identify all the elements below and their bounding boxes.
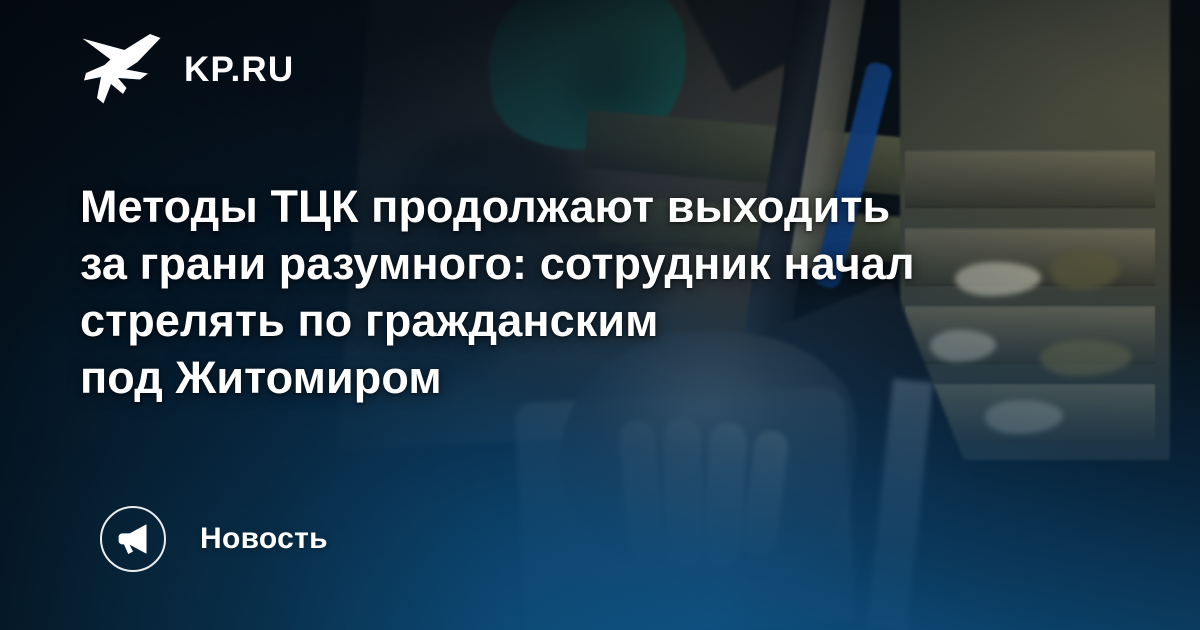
brand-logo[interactable]: KP.RU [80,32,294,106]
headline-line-2: за грани разумного: сотрудник начал [80,235,1080,292]
news-share-card: KP.RU Методы ТЦК продолжают выходить за … [0,0,1200,630]
card-content: KP.RU Методы ТЦК продолжают выходить за … [0,0,1200,630]
brand-name: KP.RU [184,52,294,87]
rubric-icon-circle [100,506,166,572]
headline-line-1: Методы ТЦК продолжают выходить [80,178,1080,235]
page-title: Методы ТЦК продолжают выходить за грани … [80,178,1080,406]
status-badge[interactable]: Новость [100,506,328,572]
headline-line-3: стрелять по гражданским [80,292,1080,349]
megaphone-icon [116,522,150,556]
status-badge-label: Новость [200,524,328,554]
headline-line-4: под Житомиром [80,349,1080,406]
swallow-bird-icon [80,32,162,106]
